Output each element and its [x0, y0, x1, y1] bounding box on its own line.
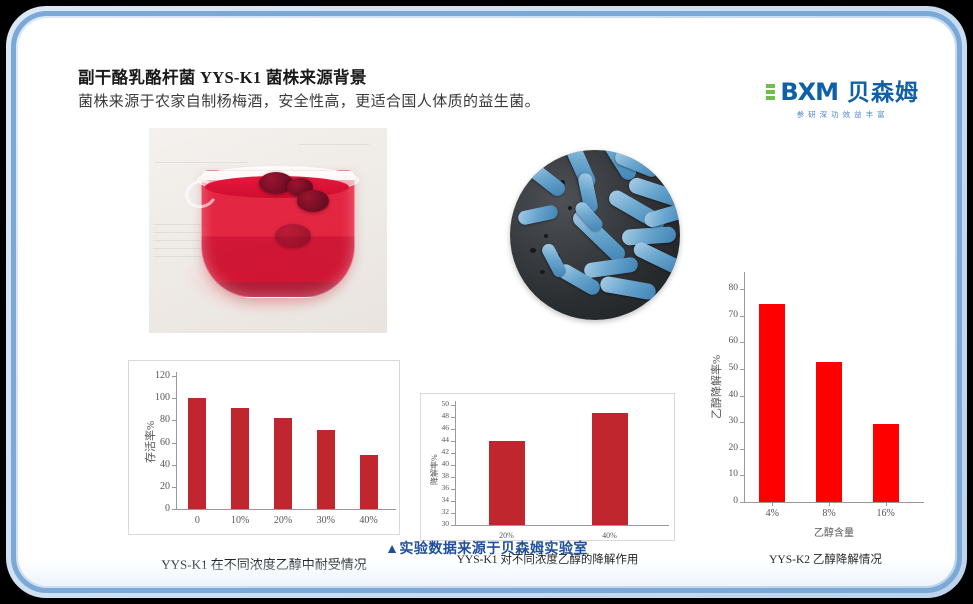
y-axis: [176, 372, 177, 509]
wine-photo: [149, 128, 387, 333]
x-axis: [176, 509, 396, 510]
berry: [297, 190, 329, 212]
y-axis: [744, 272, 745, 502]
y-tick-label: 20: [136, 481, 170, 492]
bar: [231, 408, 249, 509]
y-tick-label: 60: [704, 336, 738, 346]
y-tick: [740, 289, 744, 290]
footer-note: ▲实验数据来源于贝森姆实验室: [18, 538, 955, 558]
y-tick-label: 44: [415, 435, 449, 444]
logo-chinese: 贝森姆: [847, 81, 919, 104]
logo-latin: BXM: [780, 80, 838, 104]
y-axis-title: 降解率%: [429, 454, 440, 485]
bar: [759, 304, 785, 502]
x-tick-label: 16%: [856, 508, 916, 519]
bacteria-photo: [510, 150, 680, 320]
x-axis: [744, 502, 924, 503]
y-tick: [740, 422, 744, 423]
page-subtitle: 菌株来源于农家自制杨梅酒，安全性高，更适合国人体质的益生菌。: [78, 90, 540, 111]
y-tick-label: 48: [415, 411, 449, 420]
slide-card: 副干酪乳酪杆菌 YYS-K1 菌株来源背景 菌株来源于农家自制杨梅酒，安全性高，…: [18, 18, 955, 586]
y-tick: [451, 513, 455, 514]
y-tick: [172, 443, 176, 444]
y-tick: [451, 477, 455, 478]
y-tick: [740, 396, 744, 397]
y-tick-label: 20: [704, 443, 738, 453]
x-tick-label: 8%: [799, 508, 859, 519]
y-tick: [451, 465, 455, 466]
page-title: 副干酪乳酪杆菌 YYS-K1 菌株来源背景: [78, 64, 367, 88]
y-tick: [740, 316, 744, 317]
y-tick: [172, 376, 176, 377]
bar: [274, 418, 292, 509]
x-tick: [886, 502, 887, 506]
y-axis-title: 存活率%: [142, 420, 158, 462]
x-axis: [455, 525, 669, 526]
x-tick-label: 40%: [339, 515, 399, 526]
y-tick-label: 70: [704, 310, 738, 320]
y-tick-label: 32: [415, 507, 449, 516]
y-tick: [740, 502, 744, 503]
y-tick: [451, 441, 455, 442]
logo-tagline: 参研深功效益丰富: [766, 109, 919, 120]
y-tick: [451, 489, 455, 490]
y-tick-label: 120: [136, 370, 170, 381]
x-tick-label: 4%: [742, 508, 802, 519]
y-tick-label: 80: [704, 283, 738, 293]
y-tick-label: 0: [704, 496, 738, 506]
chart-degradation-k1-panel: [420, 393, 675, 541]
y-tick-label: 30: [415, 519, 449, 528]
x-tick: [772, 502, 773, 506]
logo-bars-icon: [766, 84, 775, 100]
berry: [275, 224, 311, 248]
y-axis-title: 乙醇降解率%: [708, 355, 724, 419]
y-tick-label: 34: [415, 495, 449, 504]
y-tick: [451, 501, 455, 502]
bar: [317, 430, 335, 509]
x-tick: [829, 502, 830, 506]
y-tick: [740, 342, 744, 343]
x-axis-title: 乙醇含量: [744, 524, 924, 539]
y-tick-label: 10: [704, 469, 738, 479]
y-tick-label: 100: [136, 392, 170, 403]
bar: [188, 398, 206, 509]
bar: [592, 413, 628, 525]
y-tick: [740, 449, 744, 450]
bar: [816, 362, 842, 502]
y-tick-label: 0: [136, 503, 170, 514]
bar: [873, 424, 899, 502]
y-tick: [172, 398, 176, 399]
brand-logo: BXM 贝森姆 参研深功效益丰富: [766, 80, 919, 120]
y-tick: [451, 525, 455, 526]
y-axis: [455, 401, 456, 525]
y-tick: [451, 453, 455, 454]
y-tick: [740, 369, 744, 370]
logo-row: BXM 贝森姆: [766, 80, 919, 104]
y-tick-label: 50: [415, 399, 449, 408]
y-tick-label: 46: [415, 423, 449, 432]
bar: [360, 455, 378, 509]
y-tick: [451, 417, 455, 418]
y-tick: [451, 405, 455, 406]
y-tick: [172, 420, 176, 421]
y-tick: [451, 429, 455, 430]
y-tick: [740, 475, 744, 476]
y-tick: [172, 509, 176, 510]
y-tick: [172, 465, 176, 466]
bar: [489, 441, 525, 525]
y-tick: [172, 487, 176, 488]
slide-root: 副干酪乳酪杆菌 YYS-K1 菌株来源背景 菌株来源于农家自制杨梅酒，安全性高，…: [0, 0, 973, 604]
